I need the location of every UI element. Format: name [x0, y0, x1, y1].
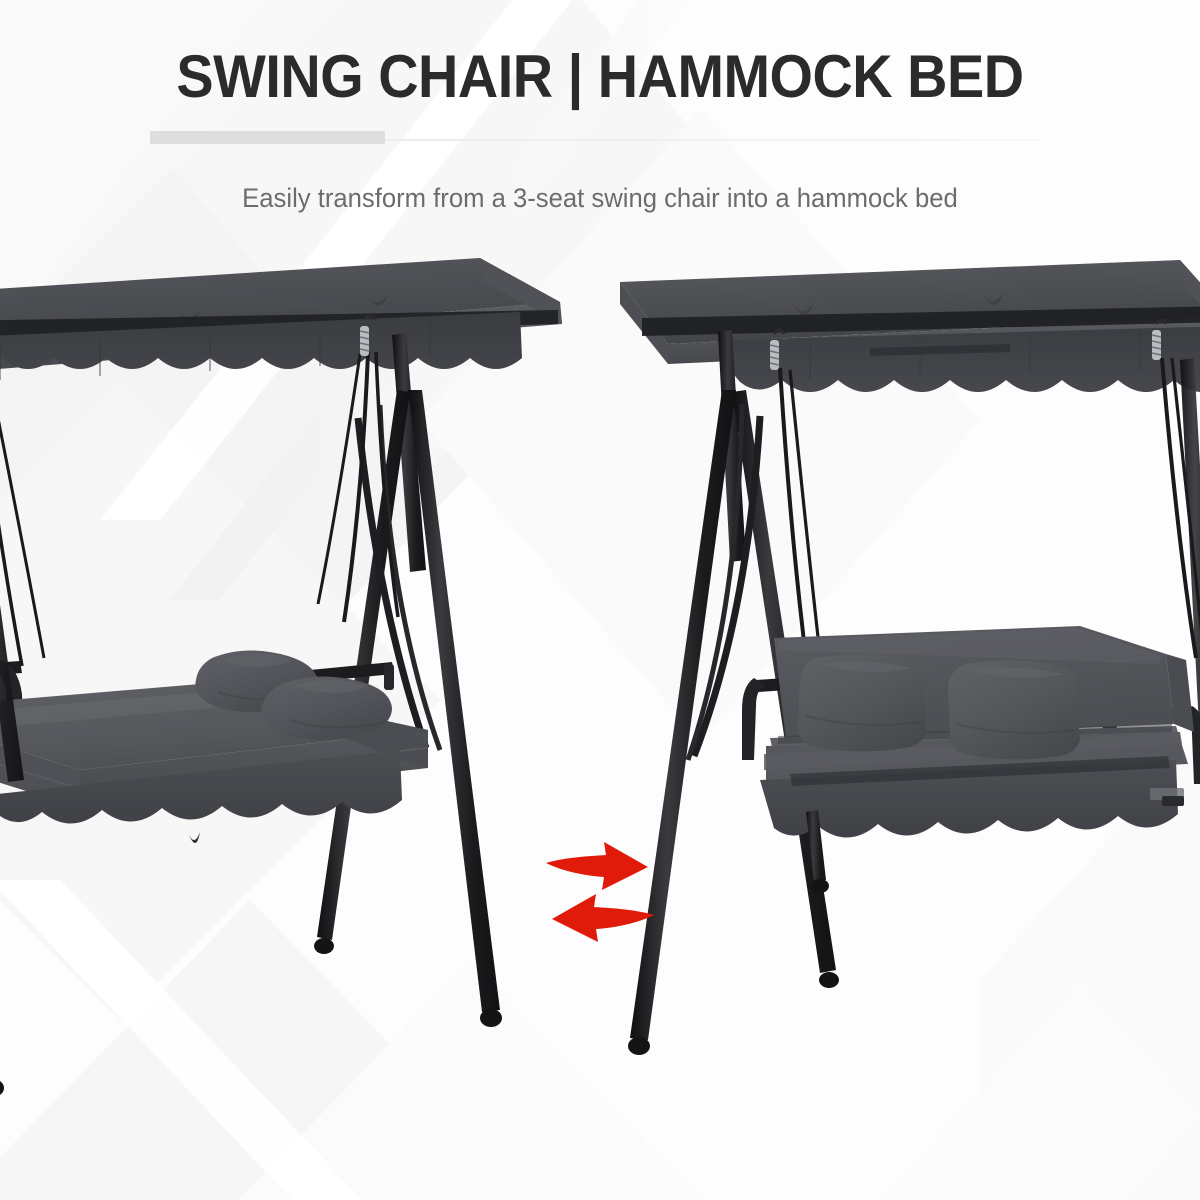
canopy-right [620, 260, 1200, 392]
product-image-swing-chair [610, 240, 1200, 1200]
foot-cap [314, 938, 334, 954]
pillow-front [261, 676, 392, 740]
canopy-left [0, 258, 562, 386]
foot-cap [811, 879, 829, 893]
marketing-banner: SWING CHAIR | HAMMOCK BED Easily transfo… [0, 0, 1200, 1200]
foot-cap [819, 972, 839, 988]
product-image-hammock-bed [0, 240, 580, 1200]
page-title: SWING CHAIR | HAMMOCK BED [42, 45, 1158, 108]
header: SWING CHAIR | HAMMOCK BED Easily transfo… [0, 0, 1200, 240]
swing-chair-seat [742, 626, 1200, 893]
page-subtitle: Easily transform from a 3-seat swing cha… [30, 183, 1170, 214]
product-comparison-stage [0, 240, 1200, 1200]
suspension-cables [780, 358, 1200, 658]
pillow-left [798, 654, 926, 751]
foot-cap [0, 1079, 4, 1097]
title-divider [0, 130, 1200, 144]
divider-accent-bar [150, 131, 385, 144]
transform-arrows [540, 830, 660, 960]
foot-cap [480, 1009, 502, 1027]
pillow-right [948, 660, 1080, 759]
arrow-right-icon [546, 842, 648, 890]
suspension-cables [0, 352, 398, 675]
foot-cap [628, 1037, 650, 1055]
arrow-left-icon [552, 894, 654, 942]
